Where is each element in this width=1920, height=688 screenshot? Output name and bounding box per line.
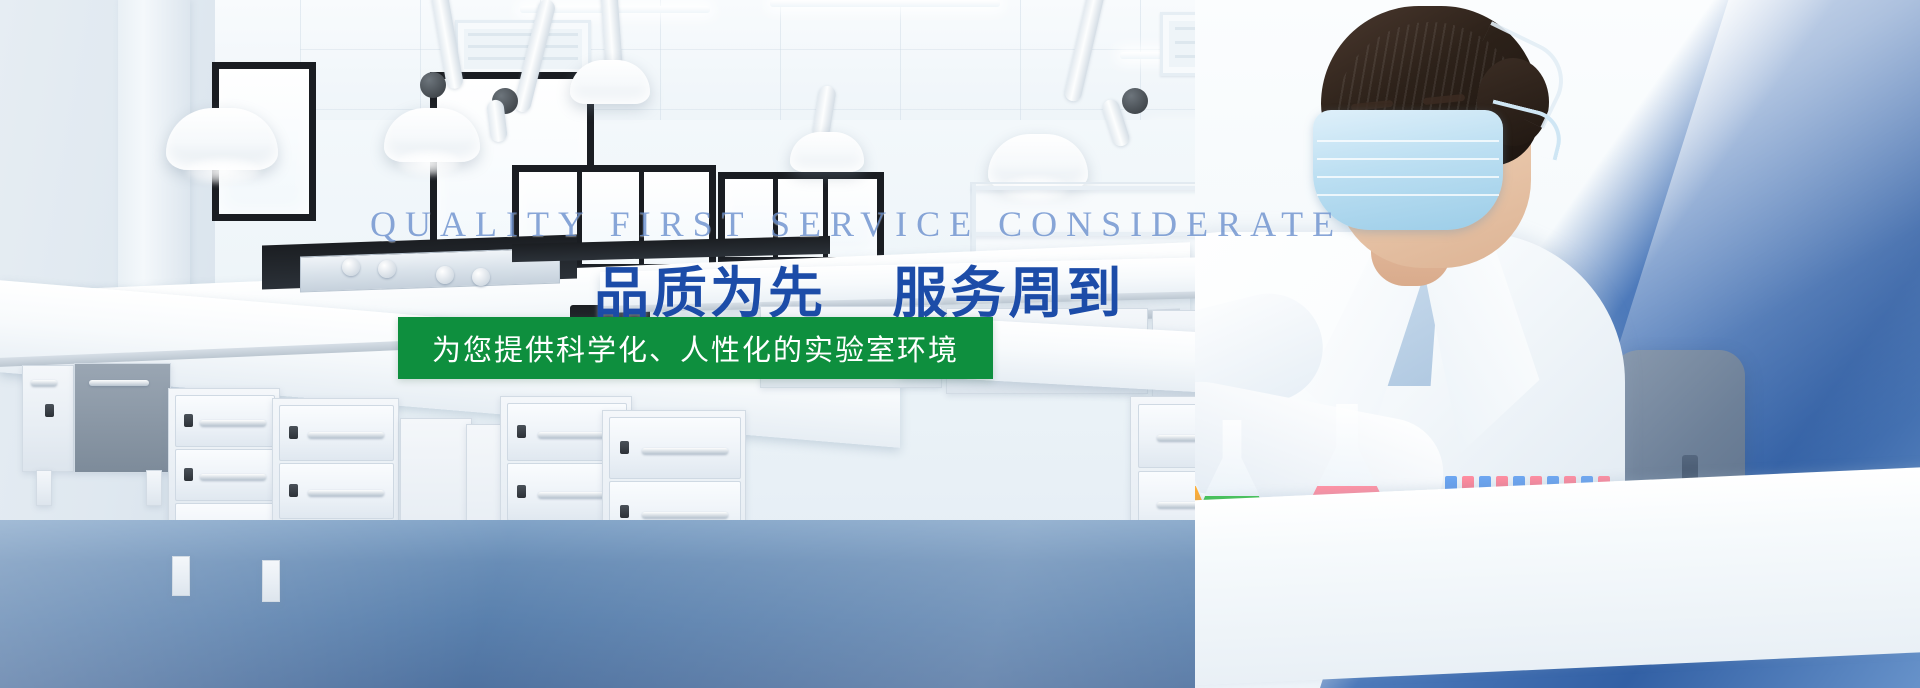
bench-leg bbox=[172, 556, 190, 596]
bench-leg bbox=[146, 470, 162, 506]
headline: 品质为先 服务周到 bbox=[594, 248, 1124, 328]
subtitle-text: 为您提供科学化、人性化的实验室环境 bbox=[432, 327, 959, 369]
lamp-glow bbox=[398, 150, 460, 176]
bench-leg bbox=[36, 470, 52, 506]
under-bench-cabinet bbox=[22, 365, 74, 472]
bench-knob bbox=[472, 268, 490, 286]
english-tagline: QUALITY FIRST SERVICE CONSIDERATE bbox=[370, 203, 1343, 245]
lab-desk bbox=[1195, 462, 1920, 688]
pendant-lamp bbox=[790, 132, 864, 172]
lamp-joint bbox=[420, 72, 446, 98]
subtitle-banner: 为您提供科学化、人性化的实验室环境 bbox=[398, 317, 993, 379]
lab-hero-banner: QUALITY FIRST SERVICE CONSIDERATE 品质为先 服… bbox=[0, 0, 1920, 688]
under-bench-cabinet bbox=[74, 363, 171, 473]
bench-knob bbox=[342, 258, 360, 276]
lamp-joint bbox=[1122, 88, 1148, 114]
bench-leg bbox=[262, 560, 280, 602]
headline-part-1: 品质为先 bbox=[594, 261, 826, 325]
bench-knob bbox=[436, 266, 454, 284]
lamp-glow bbox=[186, 158, 260, 184]
ceiling-light-strip bbox=[770, 0, 1000, 7]
technician-photo bbox=[1195, 0, 1920, 688]
bench-knob bbox=[378, 260, 396, 278]
pendant-lamp bbox=[570, 60, 650, 104]
headline-part-2: 服务周到 bbox=[892, 261, 1124, 325]
